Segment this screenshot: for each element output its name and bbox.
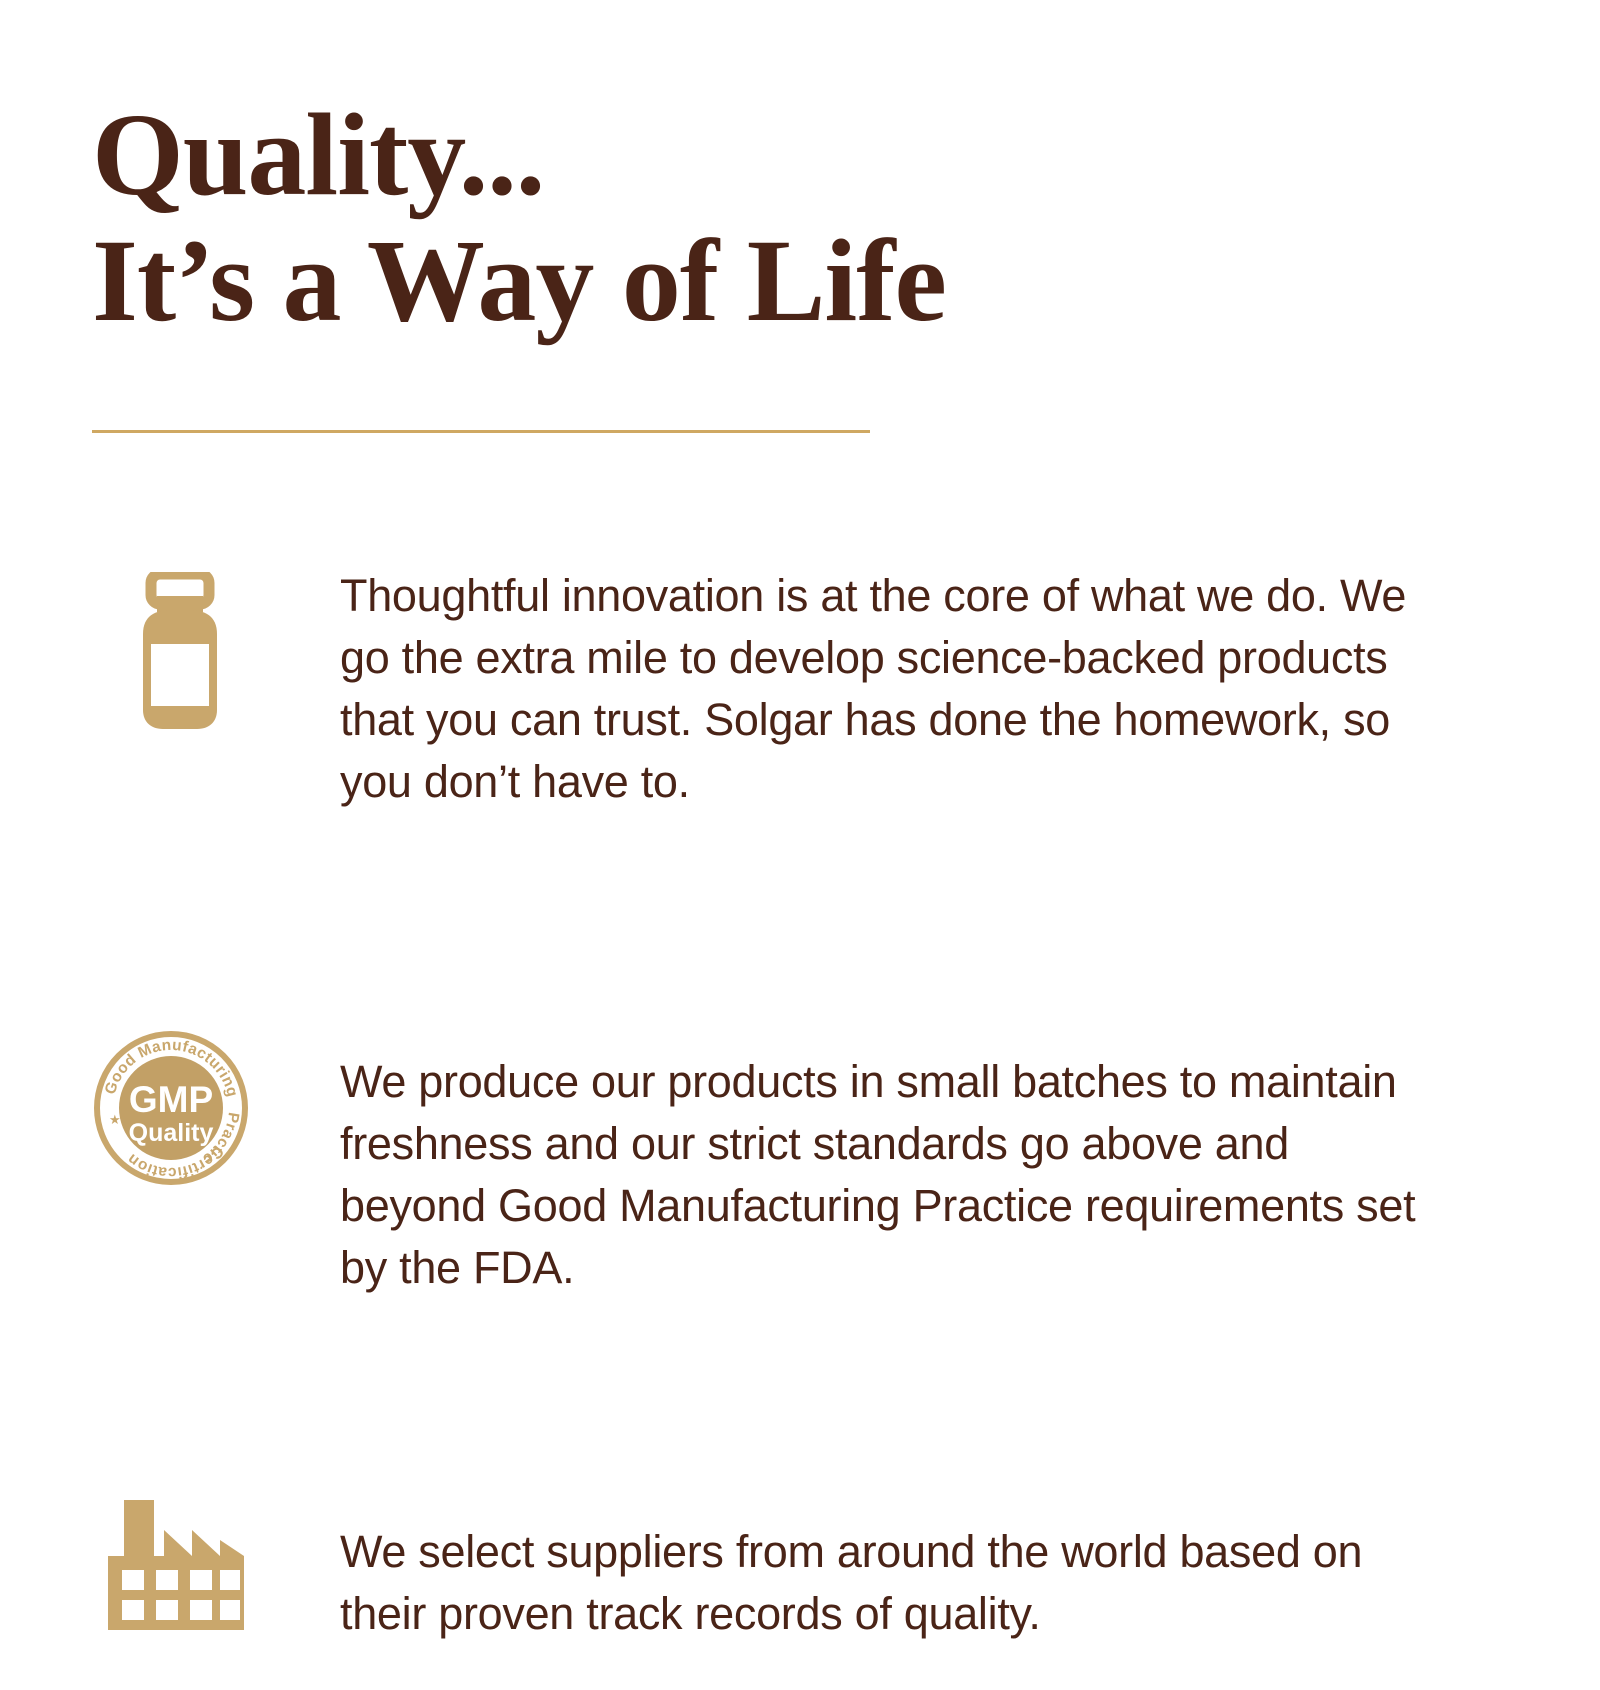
feature-icon-cell: Good Manufacturing Practice Certificatio… <box>0 1006 340 1195</box>
svg-text:Quality: Quality <box>129 1119 214 1147</box>
gmp-quality-seal-icon: Good Manufacturing Practice Certificatio… <box>89 1026 253 1195</box>
page-title-line-2: It’s a Way of Life <box>92 222 1392 340</box>
feature-list: Thoughtful innovation is at the core of … <box>0 520 1600 1690</box>
feature-text-gmp: We produce our products in small batches… <box>340 1051 1420 1299</box>
factory-icon <box>108 1494 244 1637</box>
feature-text-cell: Thoughtful innovation is at the core of … <box>340 520 1600 858</box>
feature-text-cell: We select suppliers from around the worl… <box>340 1476 1600 1690</box>
gold-divider <box>92 430 870 433</box>
svg-text:GMP: GMP <box>129 1079 213 1120</box>
page-title-line-1: Quality... <box>92 96 1392 214</box>
supplement-bottle-icon <box>121 572 239 737</box>
feature-text-suppliers: We select suppliers from around the worl… <box>340 1521 1420 1645</box>
feature-text-cell: We produce our products in small batches… <box>340 1006 1600 1344</box>
feature-item-innovation: Thoughtful innovation is at the core of … <box>0 520 1600 858</box>
seal-star: ★ <box>109 1113 121 1128</box>
feature-item-gmp: Good Manufacturing Practice Certificatio… <box>0 1006 1600 1344</box>
page-title: Quality... It’s a Way of Life <box>92 96 1392 340</box>
feature-text-innovation: Thoughtful innovation is at the core of … <box>340 565 1420 813</box>
feature-icon-cell <box>0 520 340 737</box>
feature-item-suppliers: We select suppliers from around the worl… <box>0 1476 1600 1690</box>
quality-page: Quality... It’s a Way of Life <box>0 0 1600 1600</box>
feature-icon-cell <box>0 1476 340 1637</box>
